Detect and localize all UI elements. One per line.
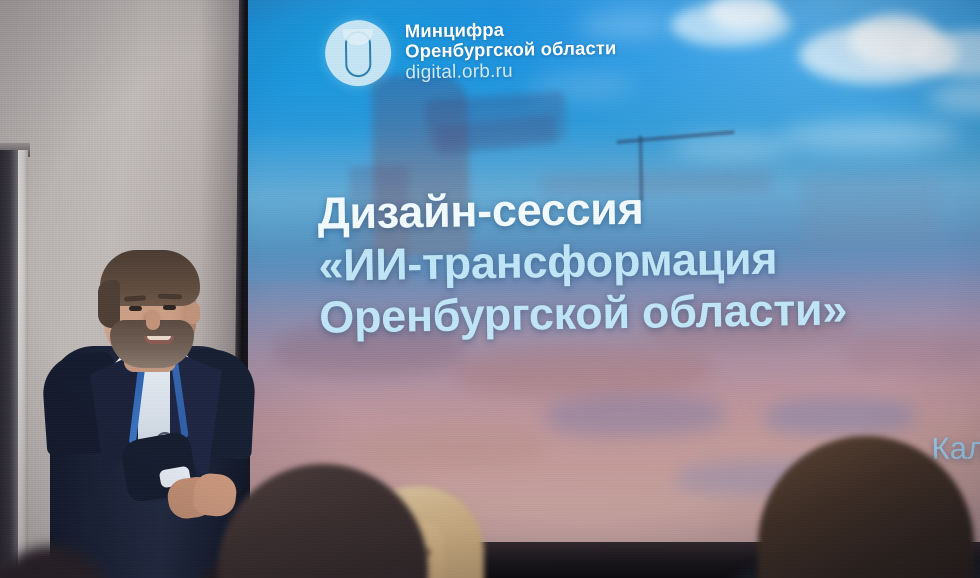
speaker-teeth	[147, 336, 171, 340]
ground-blob	[365, 427, 546, 468]
speaker-ear	[186, 302, 200, 324]
ground-blob	[765, 397, 916, 435]
speaker-eyebrow-right	[158, 294, 182, 300]
wall-recess-lip	[18, 150, 28, 578]
ground-blob	[454, 345, 715, 397]
slide-caption-partial: Кал	[931, 430, 980, 467]
minc-circle-logo-icon	[325, 20, 392, 87]
speaker-eye-left	[129, 306, 142, 311]
slide-title: Дизайн-сессия «ИИ-трансформация Оренбург…	[317, 176, 980, 344]
logo-website: digital.orb.ru	[405, 60, 617, 83]
slide-title-line-3: Оренбургской области»	[319, 280, 980, 344]
logo-text-block: Минцифра Оренбургской области digital.or…	[405, 18, 617, 83]
speaker-figure	[28, 246, 258, 578]
presentation-photo: Минцифра Оренбургской области digital.or…	[0, 0, 980, 578]
logo-line-2: Оренбургской области	[405, 38, 617, 61]
speaker-eye-right	[163, 305, 176, 310]
speaker-nose	[146, 310, 160, 330]
speaker-hair-side	[98, 280, 120, 328]
ground-blob	[545, 394, 726, 437]
ground-blob	[844, 330, 980, 372]
ministry-logo-block: Минцифра Оренбургской области digital.or…	[325, 16, 617, 87]
